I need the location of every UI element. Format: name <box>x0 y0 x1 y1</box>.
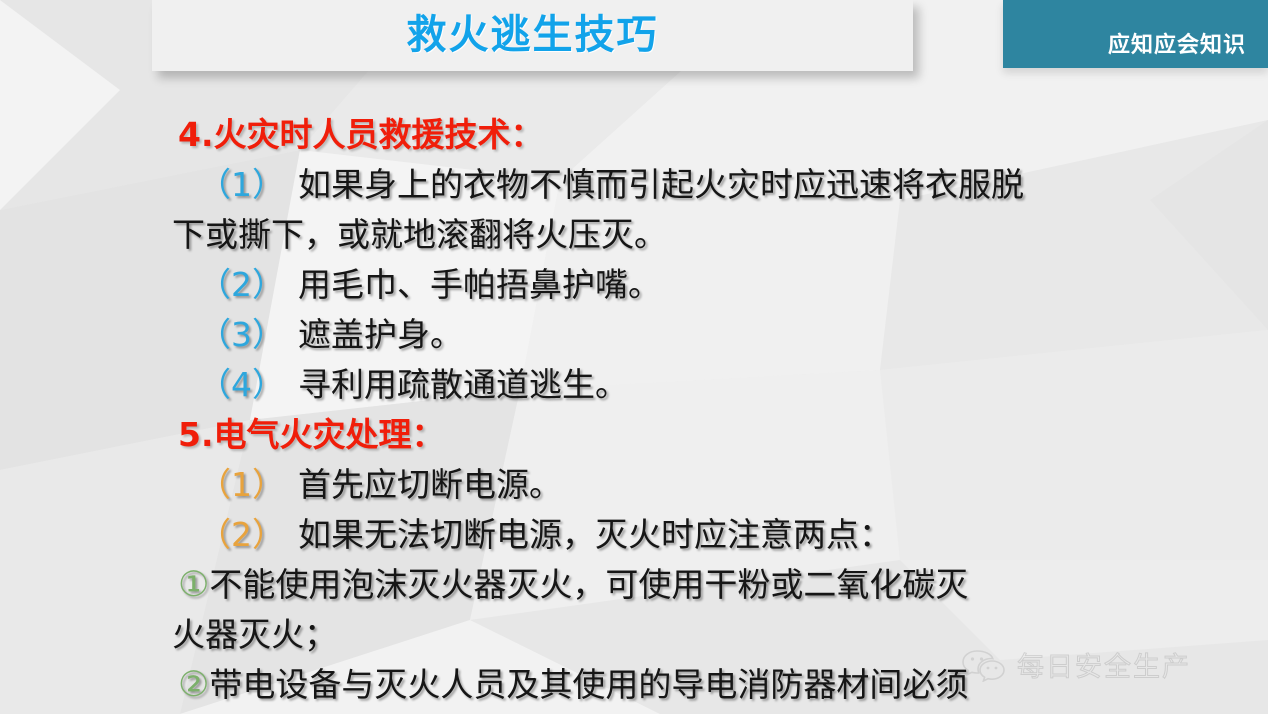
list-marker: （2） <box>198 265 285 304</box>
content-line: （1）如果身上的衣物不慎而引起火灾时应迅速将衣服脱 <box>0 160 1268 210</box>
list-marker: （2） <box>198 515 285 554</box>
content-line: （1）首先应切断电源。 <box>0 460 1268 510</box>
content-line: 保持足够的安全距离。 <box>0 710 1268 714</box>
content-line: 5.电气火灾处理： <box>0 410 1268 460</box>
line-text: 火器灭火； <box>172 615 337 654</box>
content-line: （2）用毛巾、手帕捂鼻护嘴。 <box>0 260 1268 310</box>
line-text: 4.火灾时人员救援技术： <box>178 115 544 154</box>
slide-canvas: 救火逃生技巧 应知应会知识 4.火灾时人员救援技术：（1）如果身上的衣物不慎而引… <box>0 0 1268 714</box>
content-line: 4.火灾时人员救援技术： <box>0 110 1268 160</box>
line-text: 5.电气火灾处理： <box>178 415 445 454</box>
list-marker: ② <box>178 665 209 705</box>
line-text: 下或撕下，或就地滚翻将火压灭。 <box>172 215 667 254</box>
line-text: 寻利用疏散通道逃生。 <box>298 365 628 404</box>
watermark-label: 每日安全生产 <box>1017 645 1191 684</box>
line-text: 如果身上的衣物不慎而引起火灾时应迅速将衣服脱 <box>298 165 1024 204</box>
list-marker: （4） <box>198 365 285 404</box>
content-line: （2）如果无法切断电源，灭火时应注意两点： <box>0 510 1268 560</box>
content-line: ①不能使用泡沫灭火器灭火，可使用干粉或二氧化碳灭 <box>0 560 1268 610</box>
title-plate: 救火逃生技巧 <box>152 0 913 71</box>
line-text: 遮盖护身。 <box>298 315 463 354</box>
line-text: 带电设备与灭火人员及其使用的导电消防器材间必须 <box>209 665 968 704</box>
line-text: 不能使用泡沫灭火器灭火，可使用干粉或二氧化碳灭 <box>209 565 968 604</box>
list-marker: ① <box>178 565 209 605</box>
section-badge: 应知应会知识 <box>1003 0 1268 68</box>
content-line: 下或撕下，或就地滚翻将火压灭。 <box>0 210 1268 260</box>
section-badge-label: 应知应会知识 <box>1003 27 1246 59</box>
list-marker: （1） <box>198 465 285 504</box>
list-marker: （3） <box>198 315 285 354</box>
watermark: 每日安全生产 <box>962 645 1191 684</box>
line-text: 首先应切断电源。 <box>298 465 562 504</box>
content-line: （3）遮盖护身。 <box>0 310 1268 360</box>
content-line: （4）寻利用疏散通道逃生。 <box>0 360 1268 410</box>
content-body: 4.火灾时人员救援技术：（1）如果身上的衣物不慎而引起火灾时应迅速将衣服脱下或撕… <box>0 110 1268 714</box>
list-marker: （1） <box>198 165 285 204</box>
page-title: 救火逃生技巧 <box>152 8 913 62</box>
line-text: 如果无法切断电源，灭火时应注意两点： <box>298 515 892 554</box>
wechat-icon <box>962 648 1008 682</box>
line-text: 用毛巾、手帕捂鼻护嘴。 <box>298 265 661 304</box>
